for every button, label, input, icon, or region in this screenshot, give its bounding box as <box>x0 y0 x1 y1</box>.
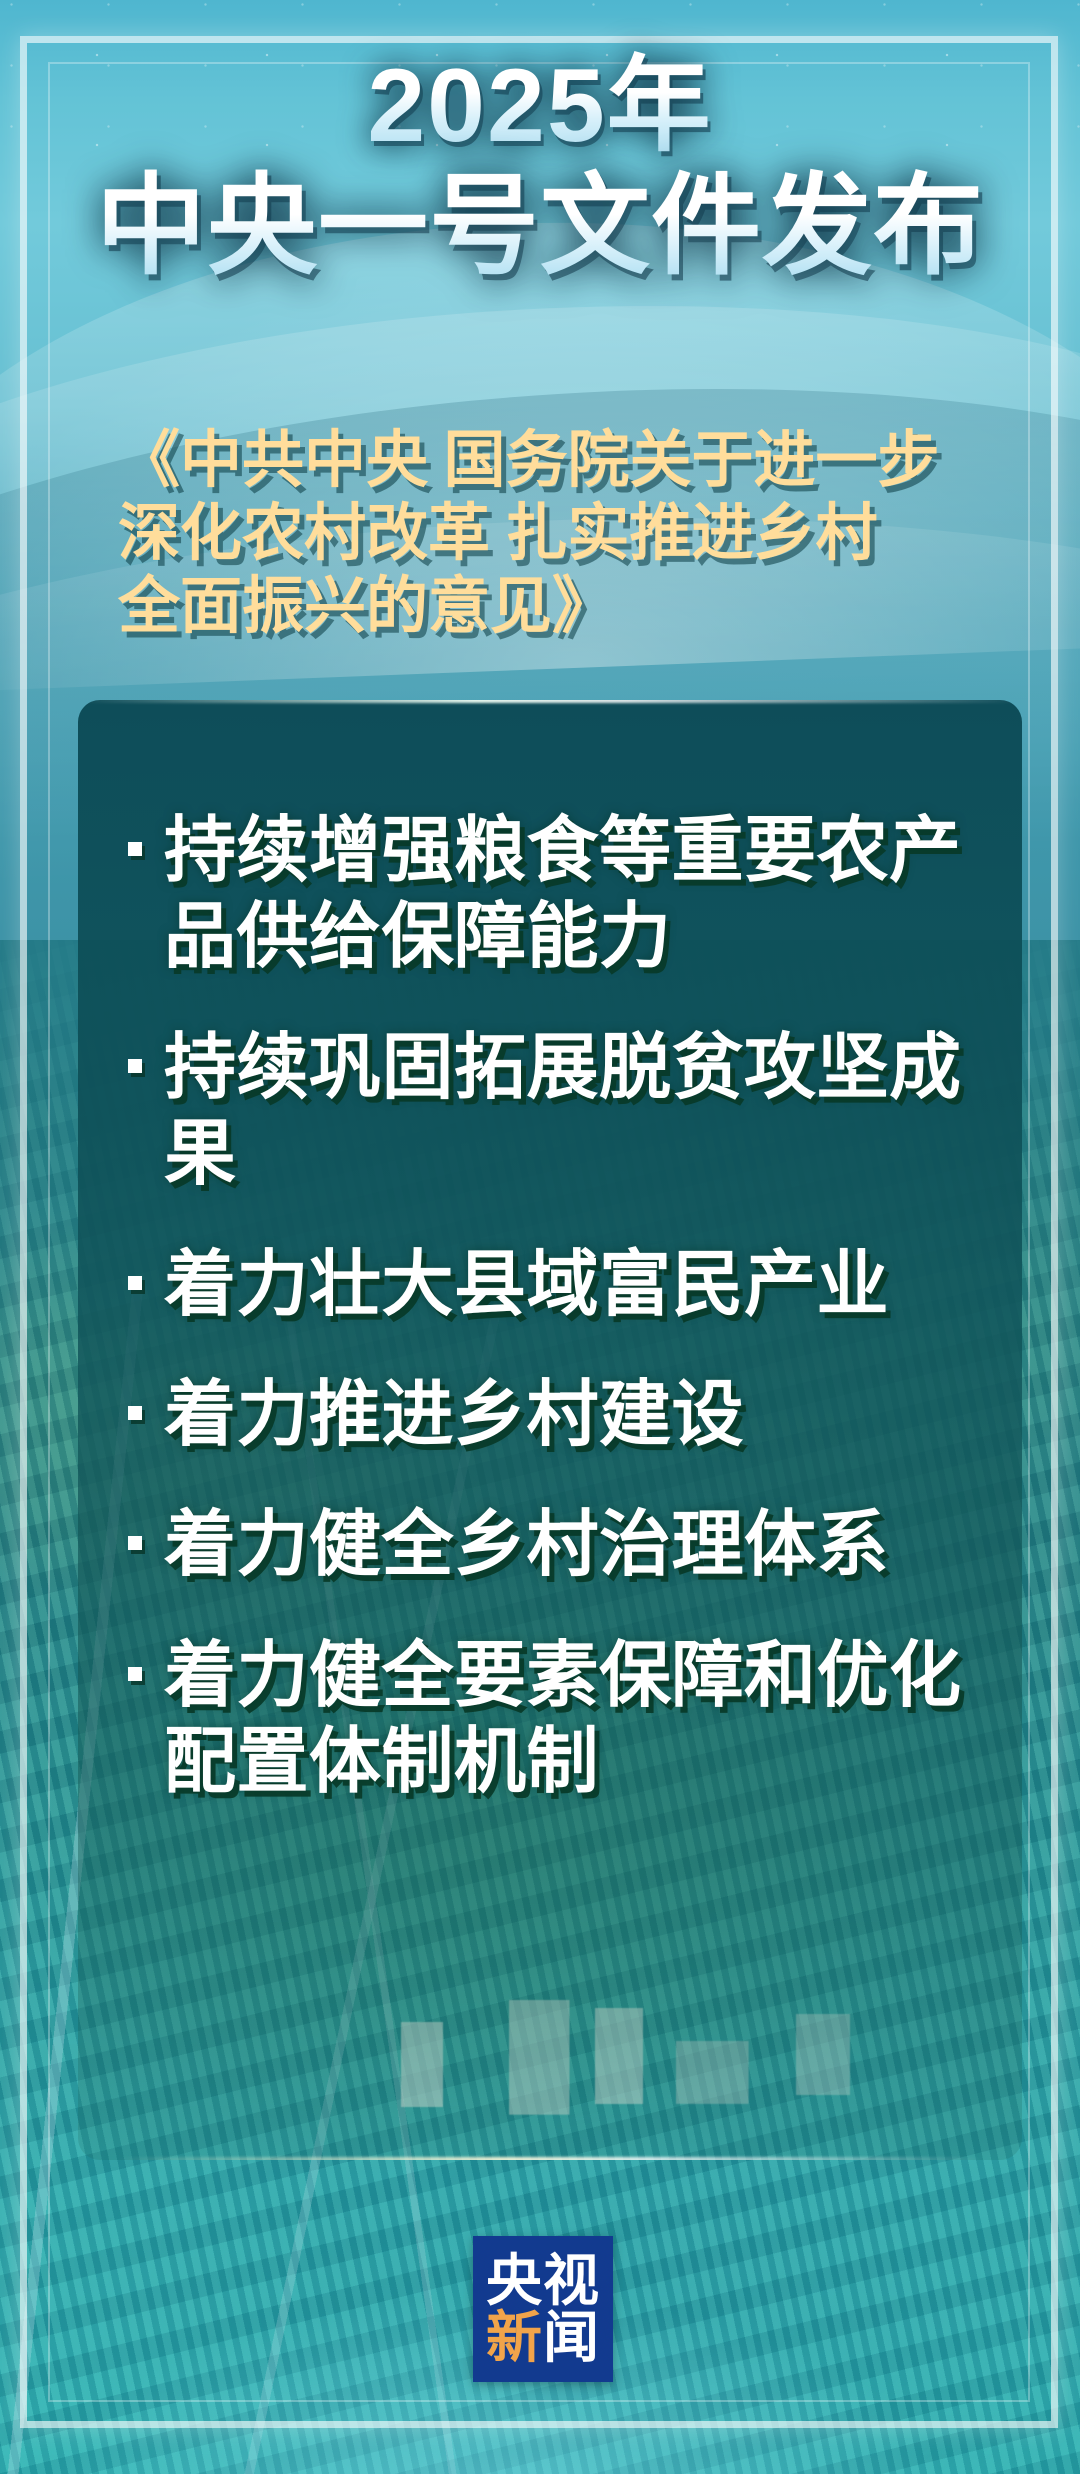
document-subtitle-line-3: 全面振兴的意见》 <box>118 571 1000 644</box>
poster-root: 2025年 中央一号文件发布 《中共中央 国务院关于进一步 深化农村改革 扎实推… <box>0 0 1080 2474</box>
cctv-news-logo: 央视 新闻 <box>473 2236 613 2382</box>
key-points-list: 持续增强粮食等重要农产品供给保障能力 持续巩固拓展脱贫攻坚成果 着力壮大县域富民… <box>78 808 1022 1850</box>
panel-bottom-edge-glow <box>78 2157 1022 2160</box>
document-subtitle: 《中共中央 国务院关于进一步 深化农村改革 扎实推进乡村 全面振兴的意见》 <box>118 425 1000 644</box>
key-points-panel: 持续增强粮食等重要农产品供给保障能力 持续巩固拓展脱贫攻坚成果 着力壮大县域富民… <box>78 700 1022 2160</box>
page-title-main: 中央一号文件发布 <box>0 166 1080 287</box>
list-item-label: 着力壮大县域富民产业 <box>164 1242 996 1328</box>
logo-line-top: 央视 <box>486 2252 600 2309</box>
panel-top-edge-glow <box>78 700 1022 703</box>
page-title-year: 2025年 <box>0 50 1080 162</box>
list-item: 着力健全乡村治理体系 <box>124 1502 996 1588</box>
logo-char-wen: 闻 <box>543 2306 600 2369</box>
list-item-label: 持续巩固拓展脱贫攻坚成果 <box>164 1025 996 1198</box>
list-item-label: 持续增强粮食等重要农产品供给保障能力 <box>164 808 996 981</box>
list-item-label: 着力健全要素保障和优化配置体制机制 <box>164 1633 996 1806</box>
list-item: 着力推进乡村建设 <box>124 1372 996 1458</box>
bullet-dot-icon <box>128 842 142 856</box>
bullet-dot-icon <box>128 1667 142 1681</box>
document-subtitle-line-1: 《中共中央 国务院关于进一步 <box>118 425 1000 498</box>
logo-char-xin: 新 <box>486 2306 543 2369</box>
list-item-label: 着力推进乡村建设 <box>164 1372 996 1458</box>
bullet-dot-icon <box>128 1276 142 1290</box>
list-item: 着力健全要素保障和优化配置体制机制 <box>124 1633 996 1806</box>
bullet-dot-icon <box>128 1406 142 1420</box>
list-item: 着力壮大县域富民产业 <box>124 1242 996 1328</box>
list-item-label: 着力健全乡村治理体系 <box>164 1502 996 1588</box>
document-subtitle-line-2: 深化农村改革 扎实推进乡村 <box>118 498 1000 571</box>
bullet-dot-icon <box>128 1059 142 1073</box>
bullet-dot-icon <box>128 1536 142 1550</box>
list-item: 持续巩固拓展脱贫攻坚成果 <box>124 1025 996 1198</box>
list-item: 持续增强粮食等重要农产品供给保障能力 <box>124 808 996 981</box>
logo-line-bottom: 新闻 <box>486 2309 600 2366</box>
header: 2025年 中央一号文件发布 <box>0 50 1080 287</box>
